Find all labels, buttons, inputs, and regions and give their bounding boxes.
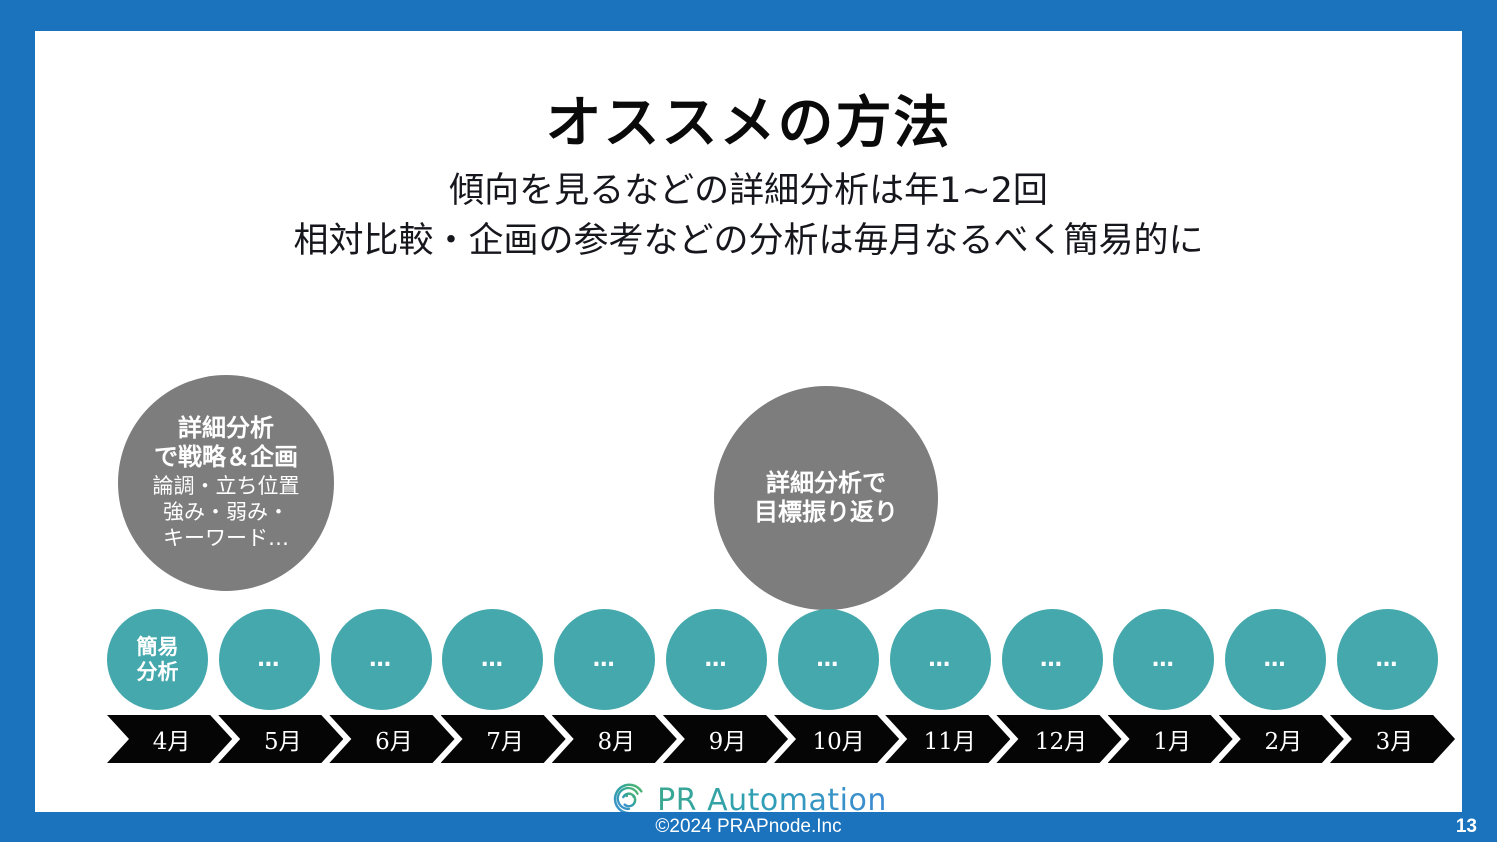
timeline-circle-label: … [481, 647, 505, 673]
slide-root: オススメの方法 傾向を見るなどの詳細分析は年1~2回 相対比較・企画の参考などの… [0, 0, 1497, 842]
timeline-month-label: 3月 [1376, 722, 1414, 756]
timeline-month-label: 9月 [709, 722, 747, 756]
timeline-circle-label: … [1264, 647, 1288, 673]
subtitle-line-1: 傾向を見るなどの詳細分析は年1~2回 [35, 167, 1462, 217]
footer-bar: ©2024 PRAPnode.Inc 13 [0, 812, 1497, 842]
bubble-review-heading-line-2: 目標振り返り [754, 498, 898, 527]
bubble-strategy-detail-line-1: 論調・立ち位置 [153, 473, 300, 499]
timeline-month-label: 8月 [597, 722, 635, 756]
timeline-circle-label: … [1375, 647, 1399, 673]
timeline-circle-placeholder: … [442, 609, 543, 710]
timeline-month-label: 10月 [812, 722, 864, 756]
timeline-circle-label: … [593, 647, 617, 673]
timeline-circle-placeholder: … [219, 609, 320, 710]
timeline-month-label: 6月 [375, 722, 413, 756]
timeline-circle-placeholder: … [890, 609, 991, 710]
subtitle-block: 傾向を見るなどの詳細分析は年1~2回 相対比較・企画の参考などの分析は毎月なるべ… [35, 167, 1462, 266]
bubble-detailed-analysis-strategy: 詳細分析 で戦略＆企画 論調・立ち位置 強み・弱み・ キーワード… [118, 375, 334, 591]
footer-copyright: ©2024 PRAPnode.Inc [0, 812, 1497, 842]
bubble-strategy-heading-line-1: 詳細分析 [178, 414, 274, 443]
timeline-circle-placeholder: … [1002, 609, 1103, 710]
bubble-strategy-detail-line-3: キーワード… [163, 525, 289, 551]
bubble-strategy-heading-line-2: で戦略＆企画 [154, 443, 298, 472]
timeline-month-chevron: 12月 [996, 715, 1121, 763]
bubble-review-heading-line-1: 詳細分析で [766, 469, 886, 498]
timeline-circle-label: … [816, 647, 840, 673]
timeline-month-chevron: 8月 [552, 715, 677, 763]
timeline-circle-label: 簡易 [137, 635, 179, 660]
timeline-circle-placeholder: … [778, 609, 879, 710]
timeline-circle-label: 分析 [137, 660, 179, 685]
timeline-circle-label: … [705, 647, 729, 673]
timeline-month-label: 7月 [486, 722, 524, 756]
subtitle-line-2: 相対比較・企画の参考などの分析は毎月なるべく簡易的に [35, 217, 1462, 267]
bubble-detailed-analysis-review: 詳細分析で 目標振り返り [714, 386, 938, 610]
slide-canvas: オススメの方法 傾向を見るなどの詳細分析は年1~2回 相対比較・企画の参考などの… [35, 31, 1462, 812]
timeline-month-chevron: 7月 [441, 715, 566, 763]
timeline-circle-simple-analysis: 簡易分析 [107, 609, 208, 710]
timeline-month-row: 4月5月6月7月8月9月10月11月12月1月2月3月 [107, 715, 1455, 763]
page-number: 13 [1456, 812, 1477, 842]
bubble-strategy-detail-line-2: 強み・弱み・ [163, 499, 289, 525]
timeline-month-label: 11月 [924, 722, 976, 756]
timeline-month-label: 1月 [1153, 722, 1191, 756]
timeline-month-label: 4月 [153, 722, 191, 756]
timeline-circle-placeholder: … [1337, 609, 1438, 710]
timeline-circle-placeholder: … [331, 609, 432, 710]
timeline-circle-placeholder: … [554, 609, 655, 710]
timeline-circle-placeholder: … [1225, 609, 1326, 710]
timeline-circle-label: … [1152, 647, 1176, 673]
timeline-circle-label: … [928, 647, 952, 673]
timeline-month-label: 5月 [264, 722, 302, 756]
timeline-circle-placeholder: … [1113, 609, 1214, 710]
timeline-month-chevron: 1月 [1108, 715, 1233, 763]
timeline-month-label: 12月 [1035, 722, 1087, 756]
timeline-circle-row: 簡易分析…………………………… [107, 609, 1438, 710]
timeline-month-chevron: 11月 [885, 715, 1010, 763]
timeline-month-chevron: 6月 [329, 715, 454, 763]
timeline-month-chevron: 5月 [218, 715, 343, 763]
timeline-month-chevron: 10月 [774, 715, 899, 763]
timeline-circle-placeholder: … [666, 609, 767, 710]
timeline-month-chevron: 9月 [663, 715, 788, 763]
timeline-month-label: 2月 [1264, 722, 1302, 756]
timeline-month-chevron: 4月 [107, 715, 232, 763]
timeline-month-chevron: 3月 [1330, 715, 1455, 763]
timeline-circle-label: … [369, 647, 393, 673]
timeline-circle-label: … [257, 647, 281, 673]
timeline-circle-label: … [1040, 647, 1064, 673]
page-title: オススメの方法 [35, 78, 1462, 159]
timeline-month-chevron: 2月 [1219, 715, 1344, 763]
